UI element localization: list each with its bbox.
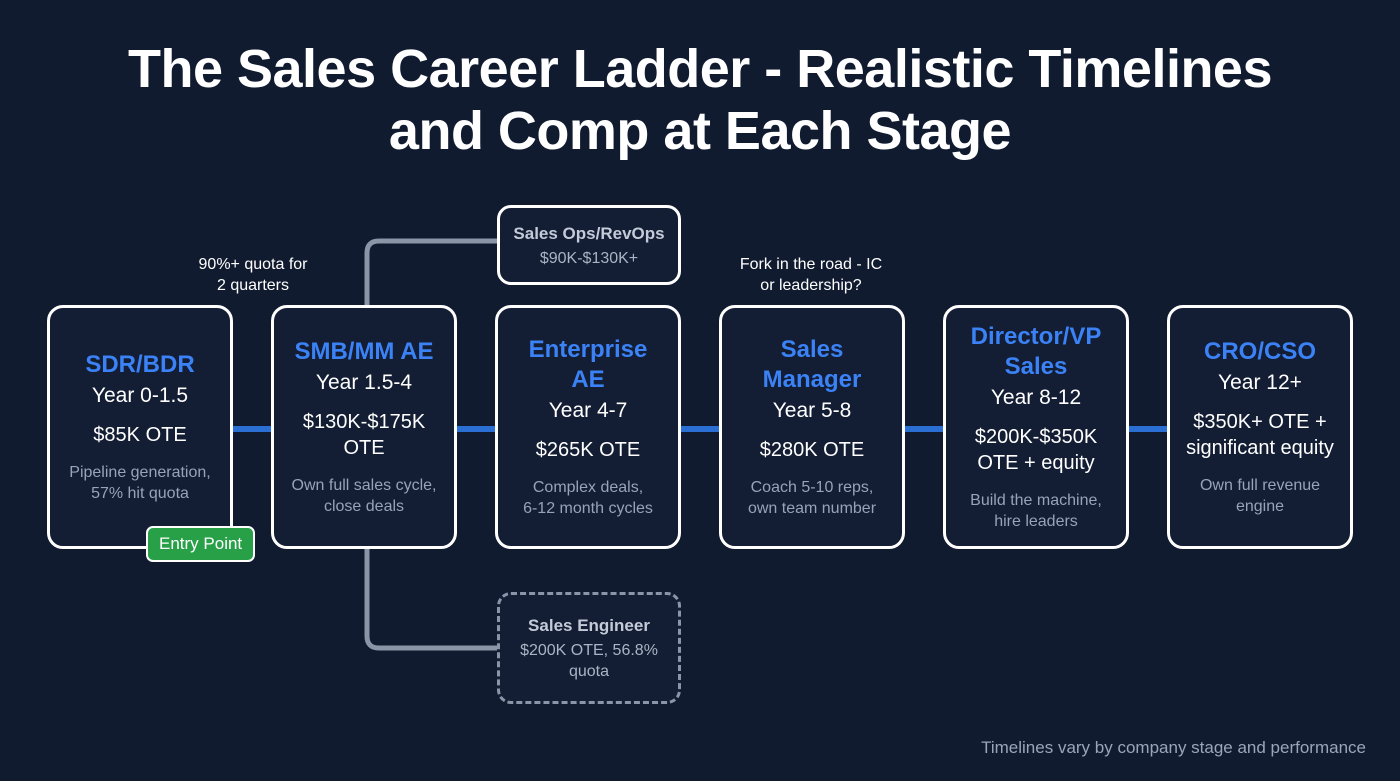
stage-card-director-vp-sales-detail: Build the machine, hire leaders: [970, 490, 1102, 532]
stage-card-smb-mm-ae-detail-line2: close deals: [324, 498, 404, 515]
stage-card-smb-mm-ae-comp: $130K-$175K OTE: [286, 409, 442, 461]
stage-card-cro-cso-years: Year 12+: [1218, 369, 1302, 397]
stage-card-sales-manager-comp: $280K OTE: [760, 437, 865, 463]
stage-card-smb-mm-ae-years: Year 1.5-4: [316, 369, 412, 397]
stage-card-enterprise-ae-years: Year 4-7: [549, 397, 628, 425]
branch-card-sales-engineer-comp-line1: $200K OTE, 56.8%: [520, 642, 658, 659]
stage-card-enterprise-ae-role: Enterprise AE: [510, 335, 666, 395]
stage-card-sdr-bdr-detail: Pipeline generation, 57% hit quota: [69, 462, 210, 504]
page-title-line2: and Comp at Each Stage: [389, 101, 1011, 161]
branch-line-sales-engineer: [367, 549, 497, 648]
stage-card-director-vp-sales-detail-line1: Build the machine,: [970, 492, 1102, 509]
stage-card-enterprise-ae-comp: $265K OTE: [536, 437, 641, 463]
stage-card-director-vp-sales-comp: $200K-$350K OTE + equity: [958, 424, 1114, 476]
branch-card-sales-engineer-title: Sales Engineer: [528, 614, 650, 637]
stage-card-cro-cso-detail-line1: Own full revenue: [1200, 477, 1320, 494]
annotation-fork-in-road-line1: Fork in the road - IC: [740, 256, 882, 273]
entry-point-badge[interactable]: Entry Point: [146, 526, 255, 562]
stage-card-sales-manager[interactable]: Sales Manager Year 5-8 $280K OTE Coach 5…: [719, 305, 905, 549]
branch-card-sales-ops[interactable]: Sales Ops/RevOps $90K-$130K+: [497, 205, 681, 285]
stage-card-enterprise-ae-detail: Complex deals, 6-12 month cycles: [523, 477, 653, 519]
stage-card-enterprise-ae-detail-line2: 6-12 month cycles: [523, 500, 653, 517]
annotation-promotion-gate: 90%+ quota for 2 quarters: [163, 254, 343, 296]
stage-card-sales-manager-detail-line2: own team number: [748, 500, 876, 517]
page-title-line1: The Sales Career Ladder - Realistic Time…: [128, 39, 1272, 99]
stage-card-director-vp-sales-role: Director/VP Sales: [958, 322, 1114, 382]
stage-card-smb-mm-ae-detail: Own full sales cycle, close deals: [292, 475, 437, 517]
stage-card-sdr-bdr-years: Year 0-1.5: [92, 382, 188, 410]
footnote: Timelines vary by company stage and perf…: [981, 737, 1366, 759]
stage-card-enterprise-ae-detail-line1: Complex deals,: [533, 479, 643, 496]
stage-card-sdr-bdr-role: SDR/BDR: [85, 350, 194, 380]
branch-card-sales-ops-comp: $90K-$130K+: [540, 248, 638, 269]
stage-card-sales-manager-detail: Coach 5-10 reps, own team number: [748, 477, 876, 519]
stage-card-smb-mm-ae-detail-line1: Own full sales cycle,: [292, 477, 437, 494]
branch-card-sales-engineer[interactable]: Sales Engineer $200K OTE, 56.8% quota: [497, 592, 681, 704]
stage-card-cro-cso-role: CRO/CSO: [1204, 337, 1316, 367]
stage-card-sdr-bdr-detail-line2: 57% hit quota: [91, 485, 189, 502]
stage-card-smb-mm-ae[interactable]: SMB/MM AE Year 1.5-4 $130K-$175K OTE Own…: [271, 305, 457, 549]
stage-card-sdr-bdr-detail-line1: Pipeline generation,: [69, 464, 210, 481]
stage-card-director-vp-sales-detail-line2: hire leaders: [994, 513, 1078, 530]
annotation-promotion-gate-line1: 90%+ quota for: [199, 256, 308, 273]
stage-card-enterprise-ae[interactable]: Enterprise AE Year 4-7 $265K OTE Complex…: [495, 305, 681, 549]
stage-card-director-vp-sales-years: Year 8-12: [991, 384, 1081, 412]
diagram-canvas: The Sales Career Ladder - Realistic Time…: [0, 0, 1400, 781]
stage-card-cro-cso[interactable]: CRO/CSO Year 12+ $350K+ OTE + significan…: [1167, 305, 1353, 549]
branch-line-sales-ops: [367, 241, 497, 305]
page-title: The Sales Career Ladder - Realistic Time…: [0, 38, 1400, 162]
stage-card-cro-cso-detail: Own full revenue engine: [1200, 475, 1320, 517]
stage-card-cro-cso-comp: $350K+ OTE + significant equity: [1182, 409, 1338, 461]
branch-card-sales-engineer-comp: $200K OTE, 56.8% quota: [520, 640, 658, 682]
stage-card-sales-manager-detail-line1: Coach 5-10 reps,: [751, 479, 874, 496]
annotation-fork-in-road-line2: or leadership?: [760, 277, 861, 294]
branch-card-sales-ops-title: Sales Ops/RevOps: [513, 222, 664, 245]
annotation-fork-in-road: Fork in the road - IC or leadership?: [713, 254, 909, 296]
stage-card-sdr-bdr[interactable]: SDR/BDR Year 0-1.5 $85K OTE Pipeline gen…: [47, 305, 233, 549]
stage-card-cro-cso-detail-line2: engine: [1236, 498, 1284, 515]
annotation-promotion-gate-line2: 2 quarters: [217, 277, 289, 294]
stage-card-sdr-bdr-comp: $85K OTE: [93, 422, 186, 448]
stage-card-sales-manager-years: Year 5-8: [773, 397, 852, 425]
stage-card-director-vp-sales[interactable]: Director/VP Sales Year 8-12 $200K-$350K …: [943, 305, 1129, 549]
branch-card-sales-engineer-comp-line2: quota: [569, 663, 609, 680]
stage-card-smb-mm-ae-role: SMB/MM AE: [294, 337, 433, 367]
stage-card-sales-manager-role: Sales Manager: [734, 335, 890, 395]
